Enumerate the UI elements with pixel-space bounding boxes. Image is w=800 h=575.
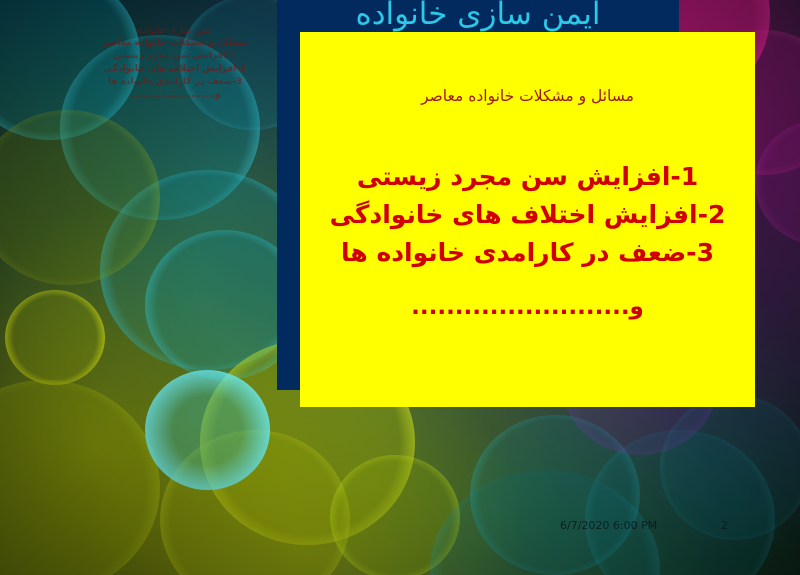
ghost-list-item: 2-افزایش اختلاف های خانوادگی [60,63,290,76]
content-list: 1-افزایش سن مجرد زیستی 2-افزایش اختلاف ه… [310,158,745,272]
content-continuation: و......................... [310,294,745,320]
list-item: 2-افزایش اختلاف های خانوادگی [310,196,745,234]
footer-page-number: 2 [721,519,728,532]
content-subtitle: مسائل و مشکلات خانواده معاصر [310,86,745,106]
ghost-title: ایمن سازی خانواده [60,24,290,37]
list-item: 3-ضعف در کارامدی خانواده ها [310,234,745,272]
ghost-list-item: 3-ضعف در کارامدی خانواده ها [60,76,290,89]
ghost-subtitle: مسائل و مشکلات خانواده معاصر [60,37,290,50]
content-box: مسائل و مشکلات خانواده معاصر 1-افزایش سن… [300,32,755,407]
list-item: 1-افزایش سن مجرد زیستی [310,158,745,196]
ghost-list-item: 1-افزایش سن مجرد زیستی [60,50,290,63]
ghost-text-overlay: ایمن سازی خانواده مسائل و مشکلات خانواده… [60,24,290,101]
presentation-slide: ایمن سازی خانواده مسائل و مشکلات خانواده… [0,0,800,575]
ghost-continuation: و......................... [60,89,290,102]
footer-date: 6/7/2020 6:00 PM [560,519,657,532]
